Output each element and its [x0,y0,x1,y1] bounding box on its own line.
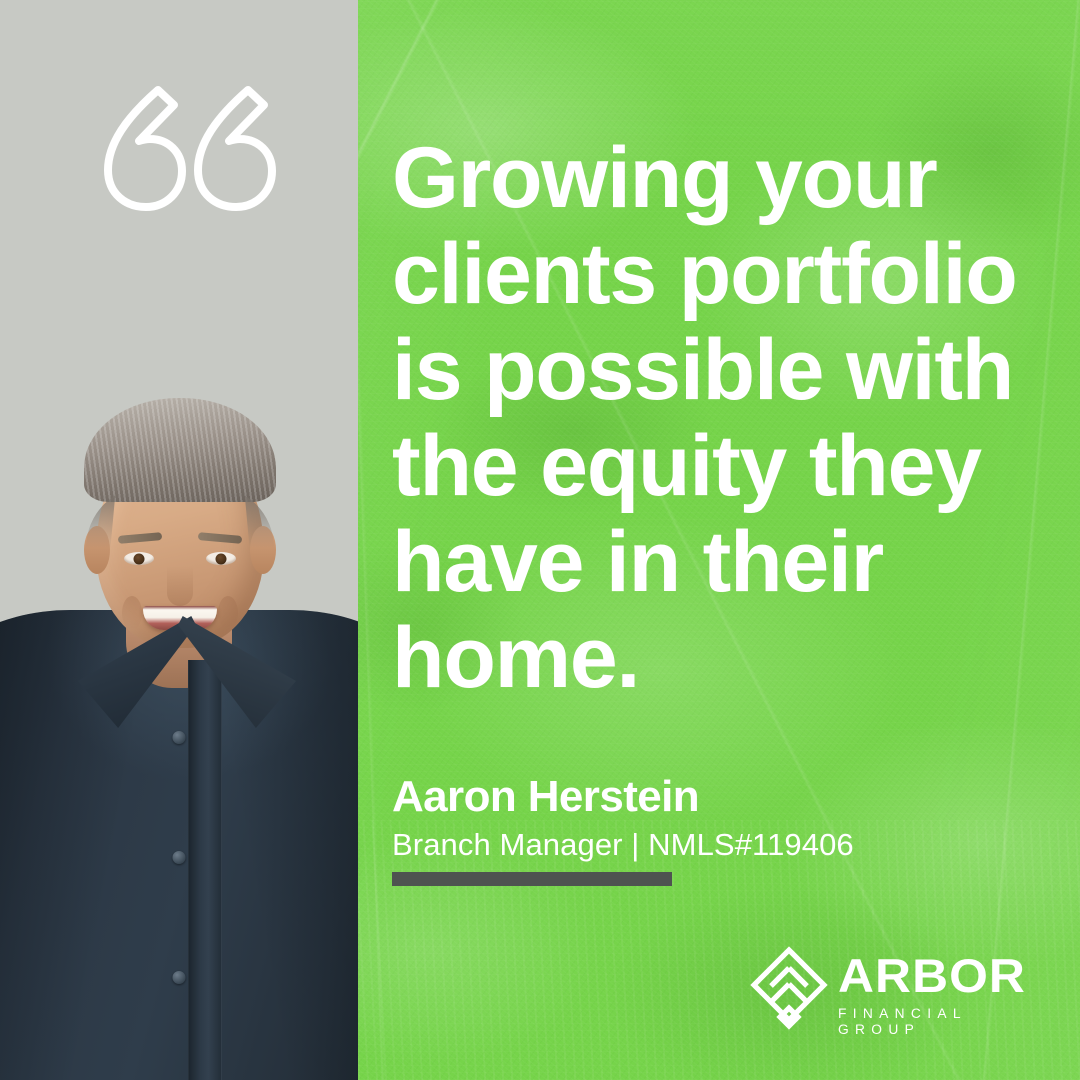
shirt-placket [188,660,222,1080]
quote-headline: Growing your clients portfolio is possib… [392,130,1042,706]
shirt-button [173,851,186,864]
attribution-title: Branch Manager | NMLS#119406 [392,826,854,864]
eyebrow-left [118,532,163,544]
portrait-panel [0,0,358,1080]
testimonial-graphic: Growing your clients portfolio is possib… [0,0,1080,1080]
arbor-logo: ARBOR FINANCIAL GROUP [750,948,1050,1040]
shirt-button [173,731,186,744]
headline-line: have in their [392,514,1042,610]
portrait-photo [0,220,358,1080]
logo-tagline: FINANCIAL GROUP [838,1006,1054,1038]
arbor-chevron-tree-icon [750,946,828,1032]
green-content-panel: Growing your clients portfolio is possib… [358,0,1080,1080]
headline-line: is possible with [392,322,1042,418]
logo-wordmark: ARBOR [838,952,1063,999]
open-quote-icon [96,78,286,213]
smile-line-right [218,596,238,630]
smile-line-left [122,596,142,630]
nose [167,566,193,606]
headline-line: Growing your [392,130,1042,226]
hair [84,398,276,502]
content-stack: Growing your clients portfolio is possib… [392,0,1052,1080]
headline-line: home. [392,610,1042,706]
shirt-button [173,971,186,984]
eye-left [124,552,154,565]
divider-rule [392,872,672,886]
eyebrow-right [198,532,243,544]
headline-line: the equity they [392,418,1042,514]
headline-line: clients portfolio [392,226,1042,322]
eye-right [206,552,236,565]
logo-type: ARBOR FINANCIAL GROUP [838,948,1050,1038]
attribution-name: Aaron Herstein [392,772,699,822]
